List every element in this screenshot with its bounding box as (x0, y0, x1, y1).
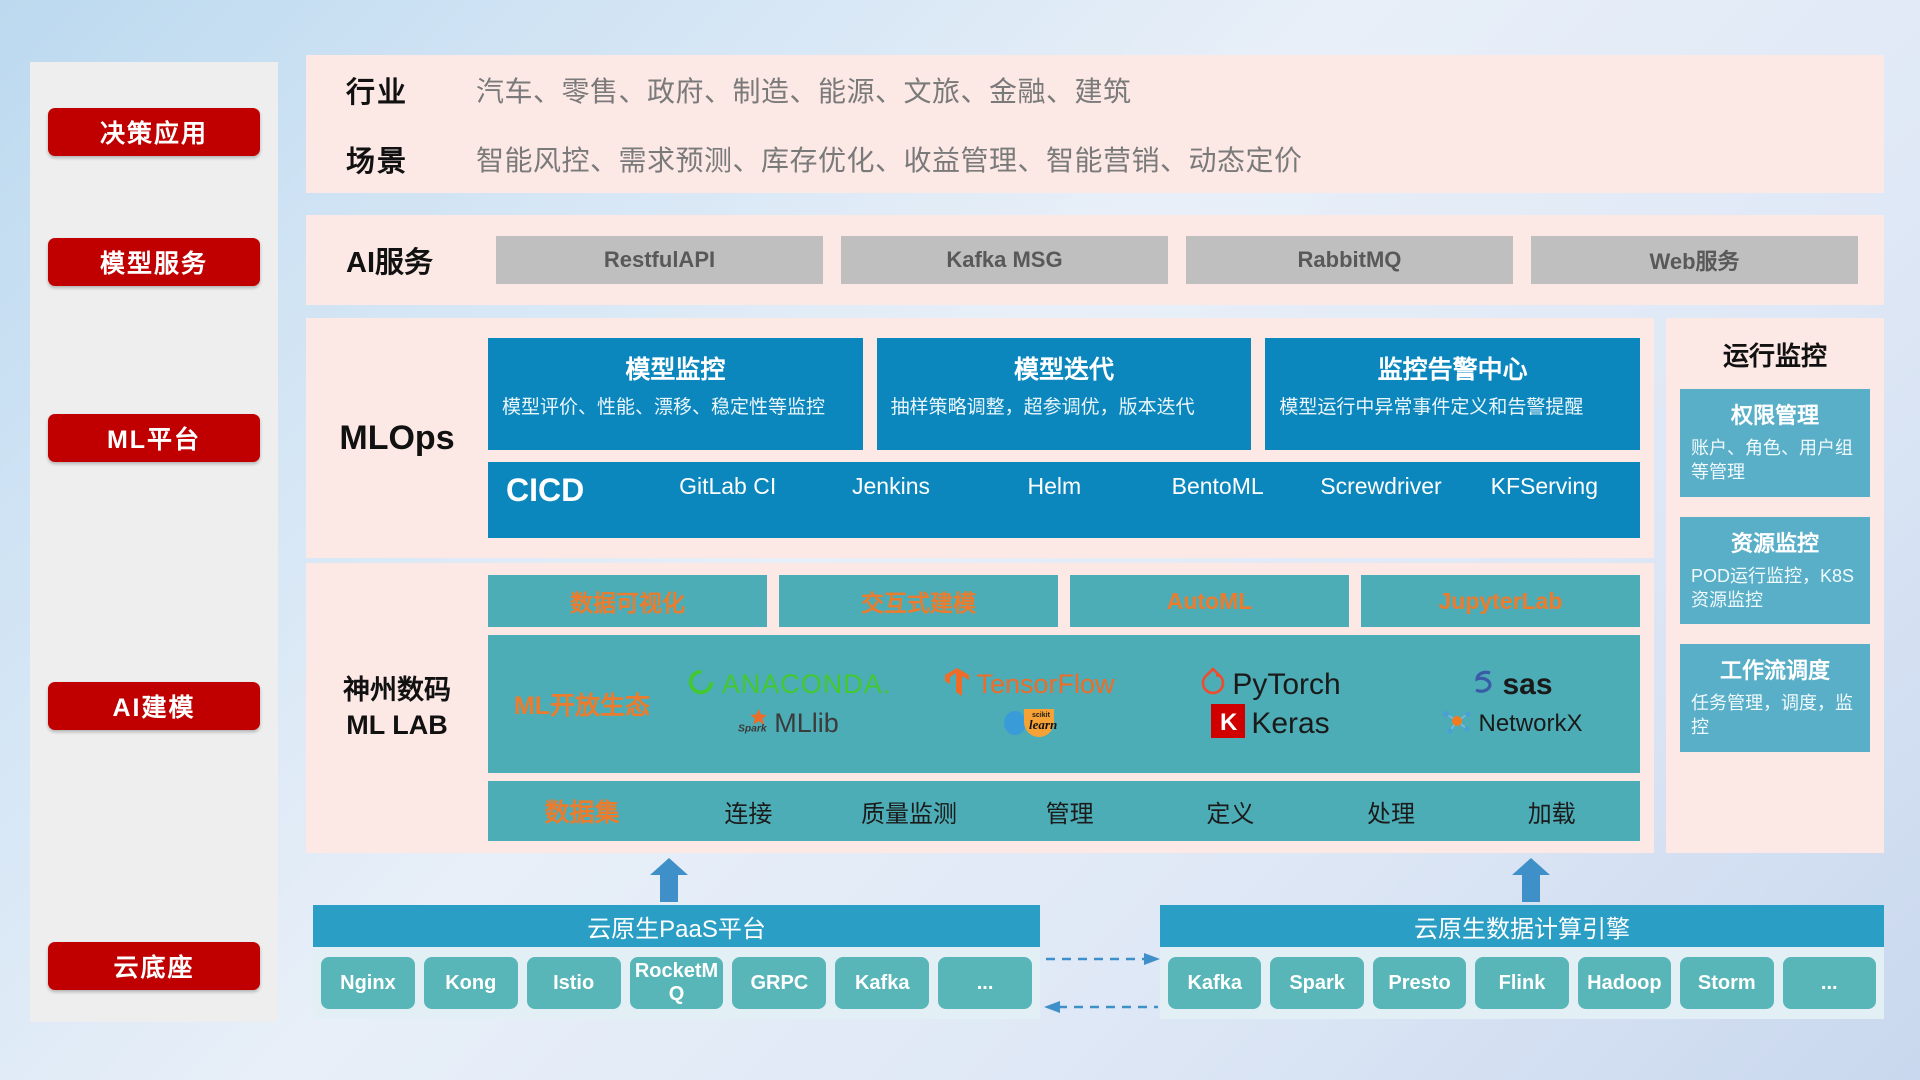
scenario-label: 场景 (346, 138, 476, 180)
mlops-card-alert-center[interactable]: 监控告警中心 模型运行中异常事件定义和告警提醒 (1265, 338, 1640, 450)
applications-panel: 行业 汽车、零售、政府、制造、能源、文旅、金融、建筑 场景 智能风控、需求预测、… (306, 55, 1884, 193)
mlops-card-model-monitoring[interactable]: 模型监控 模型评价、性能、漂移、稳定性等监控 (488, 338, 863, 450)
rail-chip-ml-platform[interactable]: ML平台 (48, 414, 260, 462)
rail-chip-label: 云底座 (113, 948, 194, 984)
monitor-card-resources[interactable]: 资源监控 POD运行监控，K8S资源监控 (1680, 517, 1870, 625)
runtime-monitoring-title: 运行监控 (1680, 336, 1870, 373)
monitor-card-title: 工作流调度 (1691, 653, 1859, 685)
cloud-chip-kafka[interactable]: Kafka (835, 957, 929, 1009)
data-chip-kafka[interactable]: Kafka (1168, 957, 1261, 1009)
ai-service-chip-restfulapi[interactable]: RestfulAPI (496, 236, 823, 284)
mlops-card-desc: 抽样策略调整，超参调优，版本迭代 (891, 395, 1238, 421)
keras-logo-text: Keras (1251, 707, 1329, 741)
anaconda-icon (686, 667, 716, 702)
ml-lab-tab-data-visualization[interactable]: 数据可视化 (488, 575, 767, 627)
spark-icon: Spark (738, 706, 768, 741)
cicd-bar: CICD GitLab CI Jenkins Helm BentoML Scre… (488, 462, 1640, 538)
rail-chip-decision-apps[interactable]: 决策应用 (48, 108, 260, 156)
pytorch-icon (1200, 667, 1226, 702)
ai-service-title: AI服务 (346, 239, 496, 281)
data-chip-spark[interactable]: Spark (1270, 957, 1363, 1009)
up-arrow-data-engine-icon (1510, 858, 1552, 902)
cloud-chip-nginx[interactable]: Nginx (321, 957, 415, 1009)
anaconda-logo-text: ANACONDA. (722, 669, 892, 700)
rail-chip-model-service[interactable]: 模型服务 (48, 238, 260, 286)
cloud-chip-rocketmq[interactable]: RocketMQ (630, 957, 724, 1009)
ml-lab-tab-interactive-modeling[interactable]: 交互式建模 (779, 575, 1058, 627)
cloud-chip-more[interactable]: ... (938, 957, 1032, 1009)
keras-logo: K Keras (1211, 704, 1329, 743)
pytorch-logo: PyTorch (1200, 667, 1340, 702)
ml-ecosystem-label: ML开放生态 (496, 686, 668, 722)
cloud-chip-istio[interactable]: Istio (527, 957, 621, 1009)
cloud-chip-kong[interactable]: Kong (424, 957, 518, 1009)
cicd-item-bentoml[interactable]: BentoML (1136, 472, 1299, 501)
dataset-item-load[interactable]: 加载 (1471, 794, 1632, 829)
data-chip-presto[interactable]: Presto (1373, 957, 1466, 1009)
rail-chip-label: 决策应用 (100, 114, 208, 150)
svg-text:Spark: Spark (738, 723, 768, 734)
tensorflow-icon (944, 667, 970, 702)
scikit-learn-icon: scikit learn (1002, 704, 1058, 743)
ml-lab-title-line1: 神州数码 (306, 673, 488, 708)
mllib-logo-text: MLlib (774, 708, 839, 739)
up-arrow-paas-icon (648, 858, 690, 902)
ml-ecosystem-band: ML开放生态 ANACONDA. TensorFlow (488, 635, 1640, 773)
rail-chip-label: 模型服务 (100, 244, 208, 280)
ml-lab-title-line2: ML LAB (306, 708, 488, 743)
spark-mllib-logo: Spark MLlib (738, 706, 839, 741)
svg-text:learn: learn (1029, 717, 1057, 732)
monitor-card-desc: 账户、角色、用户组等管理 (1691, 436, 1859, 485)
cloud-paas-title: 云原生PaaS平台 (313, 905, 1040, 947)
cicd-item-jenkins[interactable]: Jenkins (809, 472, 972, 501)
mlops-card-model-iteration[interactable]: 模型迭代 抽样策略调整，超参调优，版本迭代 (877, 338, 1252, 450)
industry-value: 汽车、零售、政府、制造、能源、文旅、金融、建筑 (476, 70, 1132, 110)
rail-chip-cloud-base[interactable]: 云底座 (48, 942, 260, 990)
dataset-band: 数据集 连接 质量监测 管理 定义 处理 加载 (488, 781, 1640, 841)
mlops-title: MLOps (306, 419, 488, 458)
cicd-label: CICD (506, 472, 646, 509)
mlops-card-group: 模型监控 模型评价、性能、漂移、稳定性等监控 模型迭代 抽样策略调整，超参调优，… (488, 338, 1640, 450)
mlops-content: 模型监控 模型评价、性能、漂移、稳定性等监控 模型迭代 抽样策略调整，超参调优，… (488, 338, 1654, 538)
dataset-item-manage[interactable]: 管理 (989, 794, 1150, 829)
monitor-card-permissions[interactable]: 权限管理 账户、角色、用户组等管理 (1680, 389, 1870, 497)
cicd-item-screwdriver[interactable]: Screwdriver (1299, 472, 1462, 501)
monitor-card-desc: 任务管理，调度，监控 (1691, 691, 1859, 740)
monitor-card-title: 权限管理 (1691, 398, 1859, 430)
ml-lab-tab-group: 数据可视化 交互式建模 AutoML JupyterLab (488, 575, 1640, 627)
cloud-chip-grpc[interactable]: GRPC (732, 957, 826, 1009)
ai-service-chip-rabbitmq[interactable]: RabbitMQ (1186, 236, 1513, 284)
ml-ecosystem-logo-group: ANACONDA. TensorFlow PyTorch (668, 665, 1632, 743)
data-chip-flink[interactable]: Flink (1475, 957, 1568, 1009)
ml-lab-tab-automl[interactable]: AutoML (1070, 575, 1349, 627)
dataset-item-group: 连接 质量监测 管理 定义 处理 加载 (668, 794, 1632, 829)
sas-logo: sas (1470, 668, 1552, 702)
layer-rail: 决策应用 模型服务 ML平台 AI建模 云底座 (30, 62, 278, 1022)
networkx-logo-text: NetworkX (1478, 710, 1582, 738)
rail-chip-label: ML平台 (107, 420, 201, 456)
data-chip-more[interactable]: ... (1783, 957, 1876, 1009)
cicd-item-kfserving[interactable]: KFServing (1463, 472, 1626, 501)
pytorch-logo-text: PyTorch (1232, 668, 1340, 702)
cicd-item-group: GitLab CI Jenkins Helm BentoML Screwdriv… (646, 472, 1626, 501)
svg-text:K: K (1220, 709, 1238, 736)
mlops-card-title: 模型监控 (502, 350, 849, 386)
anaconda-logo: ANACONDA. (686, 667, 892, 702)
cicd-item-helm[interactable]: Helm (973, 472, 1136, 501)
cloud-data-engine-title: 云原生数据计算引擎 (1160, 905, 1884, 947)
data-chip-hadoop[interactable]: Hadoop (1578, 957, 1671, 1009)
dataset-item-define[interactable]: 定义 (1150, 794, 1311, 829)
cloud-data-engine-group: 云原生数据计算引擎 Kafka Spark Presto Flink Hadoo… (1160, 905, 1884, 1019)
networkx-icon (1440, 705, 1472, 742)
networkx-logo: NetworkX (1440, 705, 1582, 742)
scenario-value: 智能风控、需求预测、库存优化、收益管理、智能营销、动态定价 (476, 139, 1303, 179)
sas-logo-text: sas (1502, 668, 1552, 702)
cicd-item-gitlab-ci[interactable]: GitLab CI (646, 472, 809, 501)
mlops-card-title: 监控告警中心 (1279, 350, 1626, 386)
industry-row: 行业 汽车、零售、政府、制造、能源、文旅、金融、建筑 (306, 55, 1884, 124)
ml-lab-panel: 神州数码 ML LAB 数据可视化 交互式建模 AutoML JupyterLa… (306, 563, 1654, 853)
mlops-card-desc: 模型运行中异常事件定义和告警提醒 (1279, 395, 1626, 421)
cloud-data-engine-chip-group: Kafka Spark Presto Flink Hadoop Storm ..… (1160, 947, 1884, 1019)
data-chip-storm[interactable]: Storm (1680, 957, 1773, 1009)
ai-service-panel: AI服务 RestfulAPI Kafka MSG RabbitMQ Web服务 (306, 215, 1884, 305)
ai-service-chip-kafka-msg[interactable]: Kafka MSG (841, 236, 1168, 284)
dataset-item-quality-monitoring[interactable]: 质量监测 (829, 794, 990, 829)
monitor-card-desc: POD运行监控，K8S资源监控 (1691, 564, 1859, 613)
ml-lab-content: 数据可视化 交互式建模 AutoML JupyterLab ML开放生态 ANA… (488, 575, 1654, 841)
keras-icon: K (1211, 704, 1245, 743)
dataset-label: 数据集 (496, 793, 668, 829)
bidirectional-link-arrows-icon (1042, 945, 1162, 1025)
ml-lab-title: 神州数码 ML LAB (306, 673, 488, 743)
runtime-monitoring-panel: 运行监控 权限管理 账户、角色、用户组等管理 资源监控 POD运行监控，K8S资… (1666, 318, 1884, 853)
cloud-paas-group: 云原生PaaS平台 Nginx Kong Istio RocketMQ GRPC… (313, 905, 1040, 1019)
tensorflow-logo-text: TensorFlow (976, 669, 1114, 700)
dataset-item-connect[interactable]: 连接 (668, 794, 829, 829)
dataset-item-process[interactable]: 处理 (1311, 794, 1472, 829)
ml-lab-tab-jupyterlab[interactable]: JupyterLab (1361, 575, 1640, 627)
mlops-card-title: 模型迭代 (891, 350, 1238, 386)
sas-icon (1470, 668, 1496, 701)
tensorflow-logo: TensorFlow (944, 667, 1114, 702)
rail-chip-ai-modeling[interactable]: AI建模 (48, 682, 260, 730)
cloud-paas-chip-group: Nginx Kong Istio RocketMQ GRPC Kafka ... (313, 947, 1040, 1019)
industry-label: 行业 (346, 69, 476, 111)
mlops-panel: MLOps 模型监控 模型评价、性能、漂移、稳定性等监控 模型迭代 抽样策略调整… (306, 318, 1654, 558)
mlops-card-desc: 模型评价、性能、漂移、稳定性等监控 (502, 395, 849, 421)
monitor-card-title: 资源监控 (1691, 526, 1859, 558)
scikit-learn-logo: scikit learn (1002, 704, 1058, 743)
ai-service-chip-group: RestfulAPI Kafka MSG RabbitMQ Web服务 (496, 236, 1858, 284)
monitor-card-workflow-scheduling[interactable]: 工作流调度 任务管理，调度，监控 (1680, 644, 1870, 752)
rail-chip-label: AI建模 (112, 688, 195, 724)
ai-service-chip-web-service[interactable]: Web服务 (1531, 236, 1858, 284)
scenario-row: 场景 智能风控、需求预测、库存优化、收益管理、智能营销、动态定价 (306, 124, 1884, 193)
